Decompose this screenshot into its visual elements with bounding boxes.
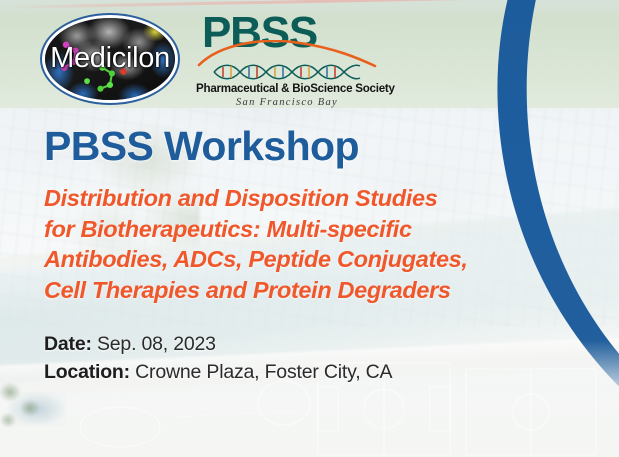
workshop-subtitle: Distribution and Disposition Studies for… <box>44 183 544 305</box>
poster-content: PBSS Workshop Distribution and Dispositi… <box>44 126 544 387</box>
medicilon-wordmark: Medicilon <box>45 42 175 75</box>
pbss-logo[interactable]: PBSS <box>196 12 378 106</box>
page-title: PBSS Workshop <box>44 126 544 167</box>
event-date-row: Date: Sep. 08, 2023 <box>44 331 544 359</box>
subtitle-line-2: for Biotherapeutics: Multi-specific <box>44 214 544 245</box>
logo-row: Medicilon PBSS <box>0 8 619 104</box>
event-details: Date: Sep. 08, 2023 Location: Crowne Pla… <box>44 331 544 386</box>
dna-helix-icon <box>212 62 362 82</box>
event-date-text: Sep. 08, 2023 <box>97 333 216 355</box>
event-date-label: Date: <box>44 333 92 355</box>
subtitle-line-1: Distribution and Disposition Studies <box>44 183 544 214</box>
medicilon-ellipse-frame: Medicilon <box>42 15 178 103</box>
subtitle-line-3: Antibodies, ADCs, Peptide Conjugates, <box>44 244 544 275</box>
pbss-tagline: Pharmaceutical & BioScience Society <box>196 82 378 95</box>
pbss-chapter: San Francisco Bay <box>196 97 378 108</box>
subtitle-line-4: Cell Therapies and Protein Degraders <box>44 275 544 306</box>
event-location-row: Location: Crowne Plaza, Foster City, CA <box>44 359 544 387</box>
event-location-label: Location: <box>44 361 130 383</box>
workshop-poster: Medicilon PBSS <box>0 0 619 457</box>
event-location-text: Crowne Plaza, Foster City, CA <box>135 361 392 383</box>
medicilon-logo[interactable]: Medicilon <box>42 15 178 103</box>
